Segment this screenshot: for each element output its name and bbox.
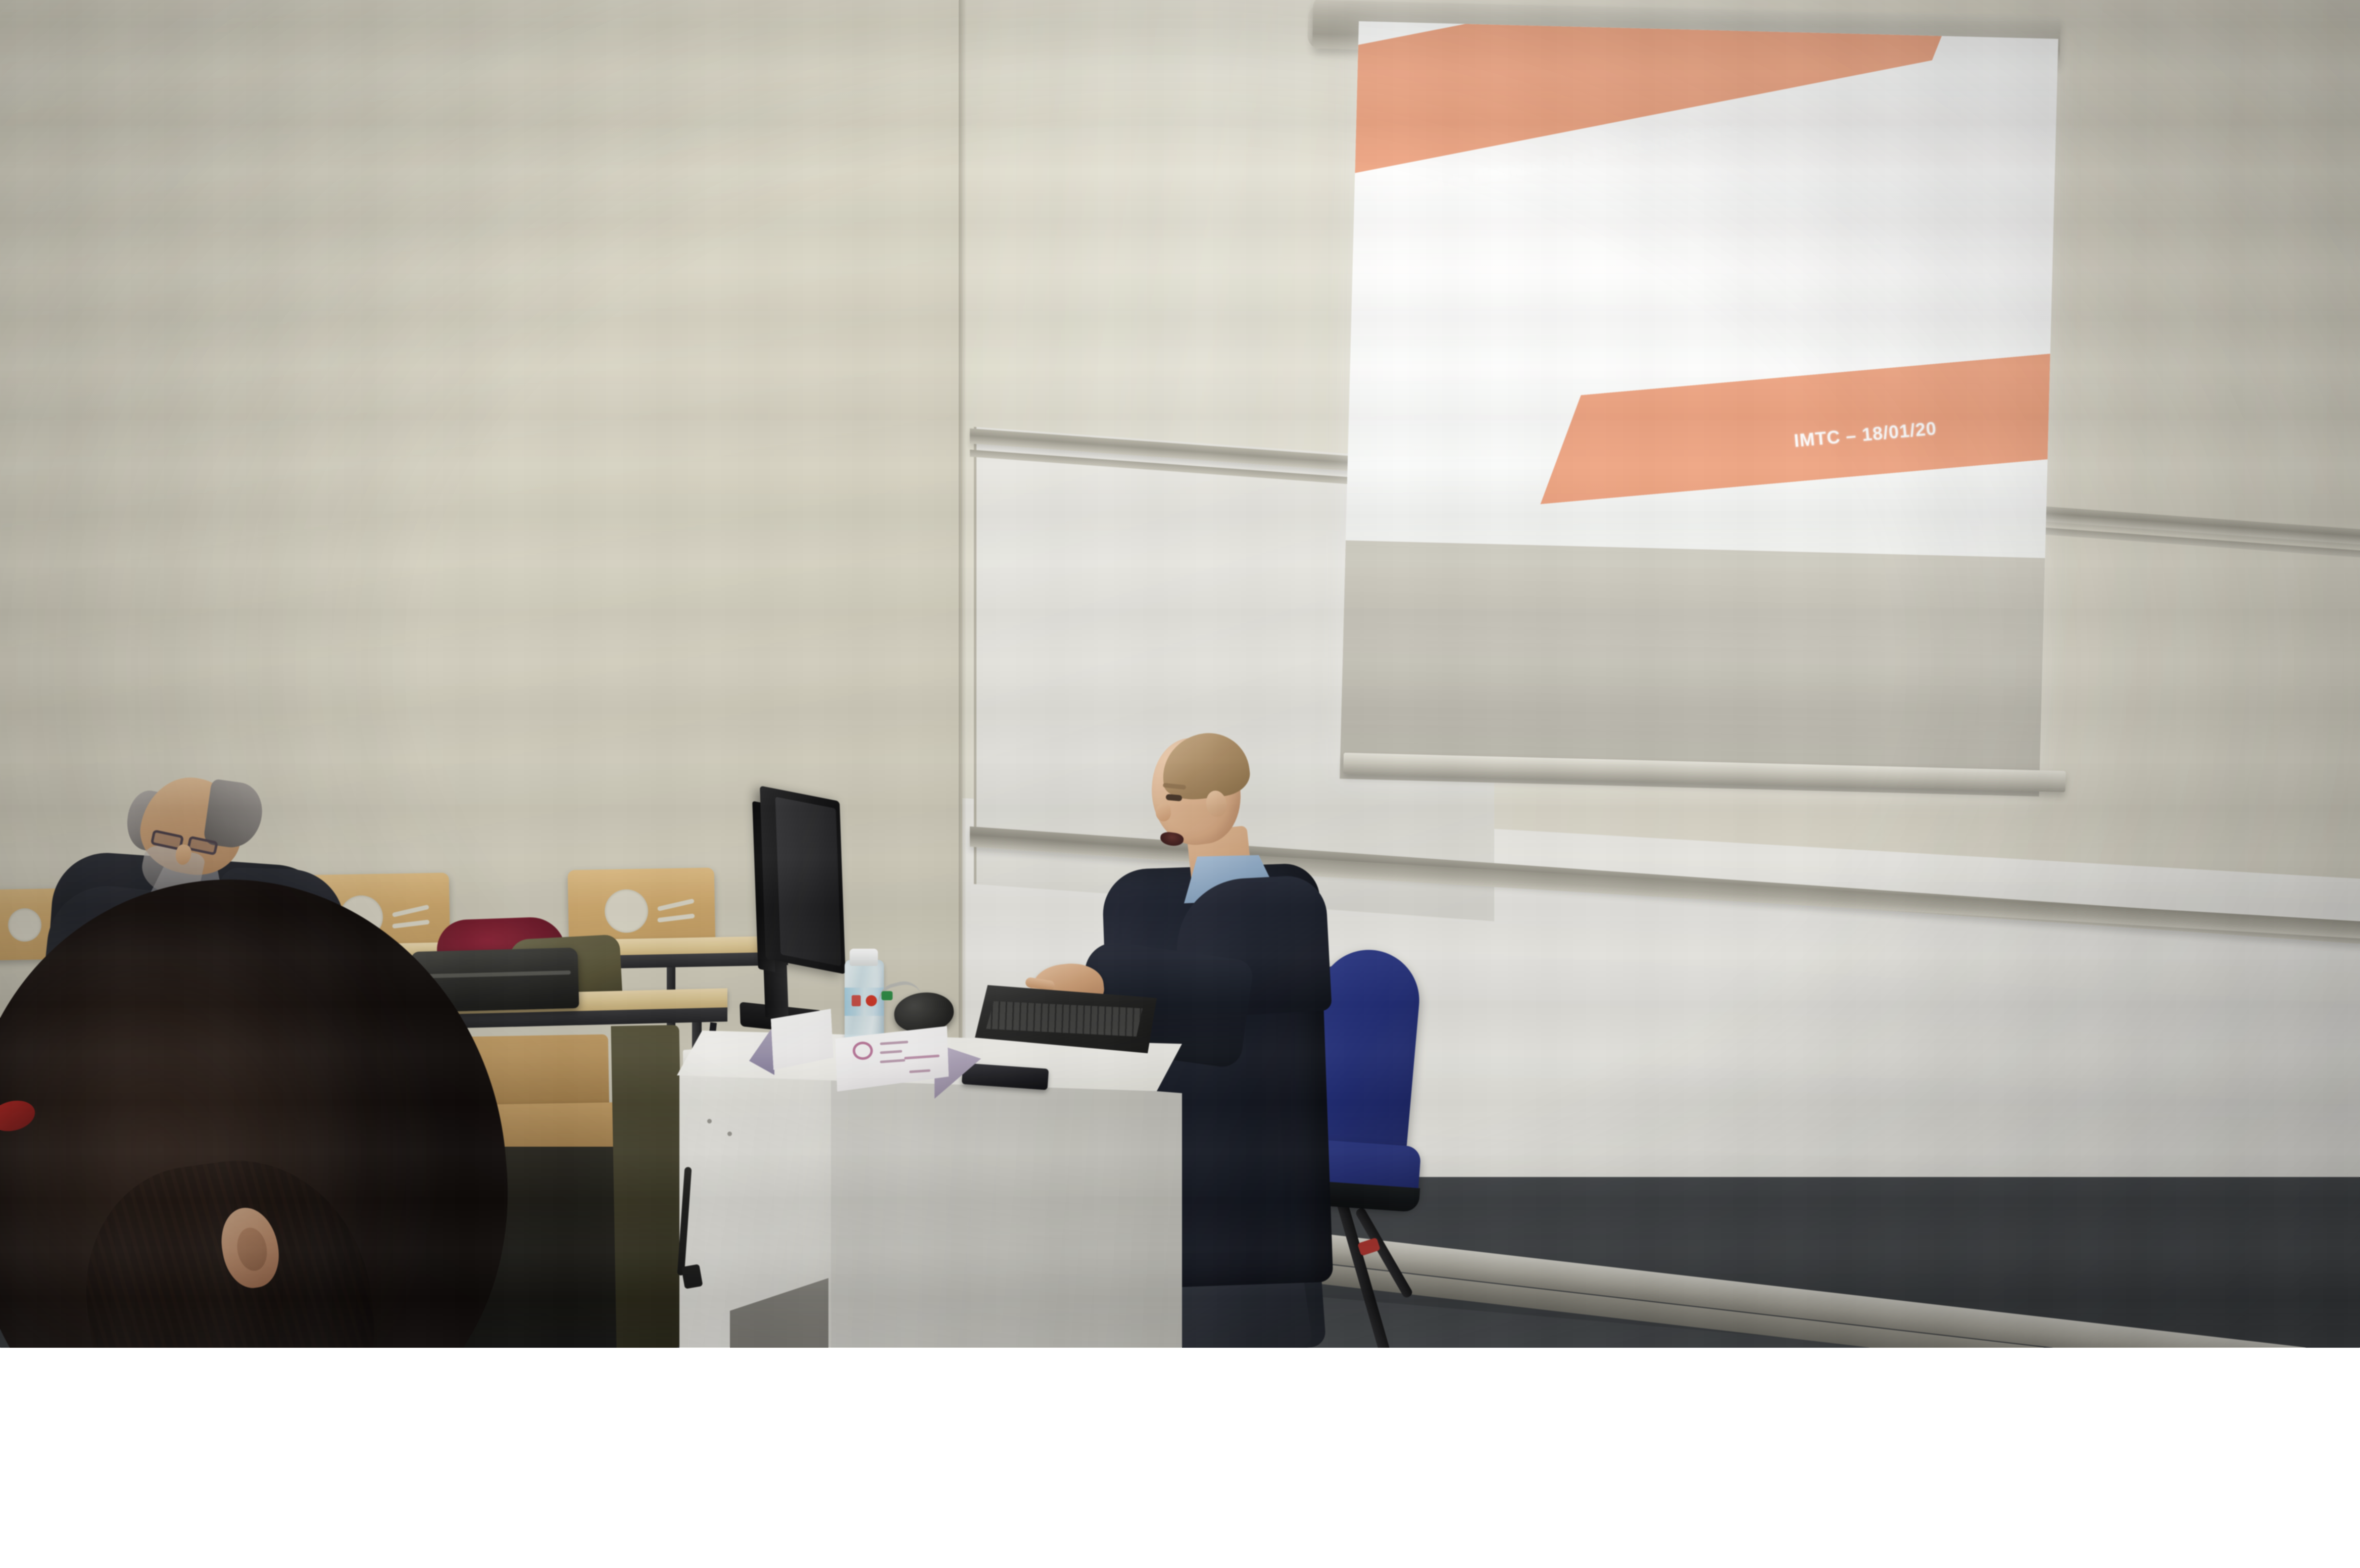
lectern-screw xyxy=(707,1119,712,1123)
slide-accent-band-bottom xyxy=(1531,351,2058,504)
slide-accent-band-top xyxy=(1346,21,2011,174)
chair-cutout-slot xyxy=(657,913,695,922)
chair-cutout-slot xyxy=(392,905,429,917)
chair-cutout-circle xyxy=(8,908,41,942)
chair-cutout-circle xyxy=(604,889,648,933)
bottle-cap[interactable] xyxy=(850,949,878,966)
bottle-label xyxy=(845,988,884,1016)
chair-cutout-slot xyxy=(392,919,430,928)
projection-screen: Le canal de distribution et les interméd… xyxy=(1340,21,2058,797)
usb-port-green-icon xyxy=(881,991,893,1000)
usb-port-red-icon xyxy=(866,995,877,1006)
monitor-screen[interactable] xyxy=(775,797,842,966)
cable-plug xyxy=(681,1264,703,1289)
bottle-label-accent xyxy=(852,995,861,1006)
dark-object-bottom-right xyxy=(2191,1492,2360,1568)
foreground-wooden-chair xyxy=(1276,1481,1548,1568)
lectern-screw xyxy=(727,1132,732,1136)
coat-draped-right xyxy=(611,1025,684,1349)
name-card-logo-icon xyxy=(853,1042,873,1060)
projected-image-area: Le canal de distribution et les interméd… xyxy=(1346,21,2058,559)
classroom-photo: Le canal de distribution et les interméd… xyxy=(0,0,2360,1568)
chair-cutout-slot xyxy=(657,899,695,911)
presentation-slide: Le canal de distribution et les interméd… xyxy=(1346,21,2058,559)
